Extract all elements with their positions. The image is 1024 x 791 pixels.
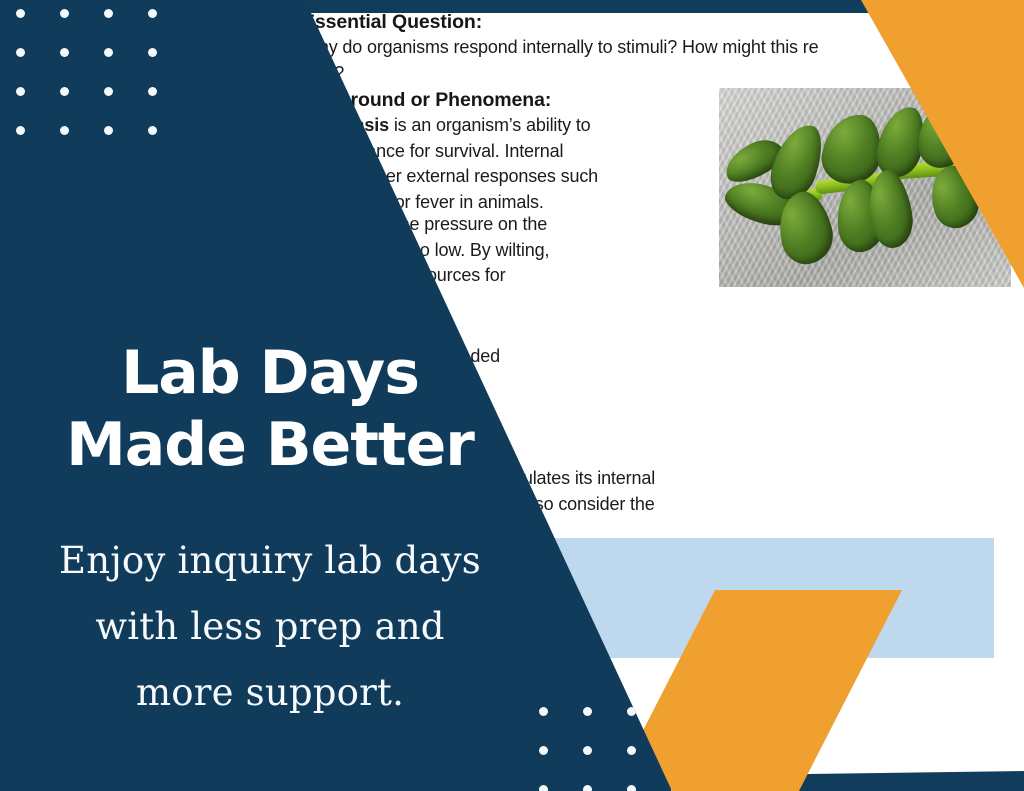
dot — [539, 785, 548, 791]
dot — [16, 48, 25, 57]
dot — [16, 87, 25, 96]
background-line-1: ostasis is an organism’s ability to — [328, 113, 748, 139]
dot — [104, 87, 113, 96]
page-title: Lab Days Made Better — [0, 337, 540, 481]
page-subtitle: Enjoy inquiry lab days with less prep an… — [0, 528, 540, 726]
dot — [16, 126, 25, 135]
dot — [583, 785, 592, 791]
dot — [60, 9, 69, 18]
dot — [627, 746, 636, 755]
dot — [148, 9, 157, 18]
background-line-2: n balance for survival. Internal — [328, 139, 748, 165]
dot — [60, 126, 69, 135]
dot-grid-top-left — [16, 9, 157, 135]
subhead-line-1: Enjoy inquiry lab days — [0, 528, 540, 594]
dot — [583, 746, 592, 755]
dot — [148, 87, 157, 96]
dot — [539, 707, 548, 716]
headline-line-2: Made Better — [0, 409, 540, 481]
subhead-line-3: more support. — [0, 660, 540, 726]
background-line-1-rest: is an organism’s ability to — [389, 115, 591, 135]
dot — [104, 126, 113, 135]
dot — [148, 126, 157, 135]
dot — [148, 48, 157, 57]
dot — [104, 9, 113, 18]
dot — [539, 746, 548, 755]
subhead-line-2: with less prep and — [0, 594, 540, 660]
dot — [60, 87, 69, 96]
dot — [104, 48, 113, 57]
promo-poster: Essential Question: Why do organisms res… — [0, 0, 1024, 791]
background-heading: kground or Phenomena: — [328, 88, 748, 113]
headline-line-1: Lab Days — [121, 338, 419, 408]
dot — [583, 707, 592, 716]
dot — [627, 785, 636, 791]
dot — [60, 48, 69, 57]
dot — [16, 9, 25, 18]
